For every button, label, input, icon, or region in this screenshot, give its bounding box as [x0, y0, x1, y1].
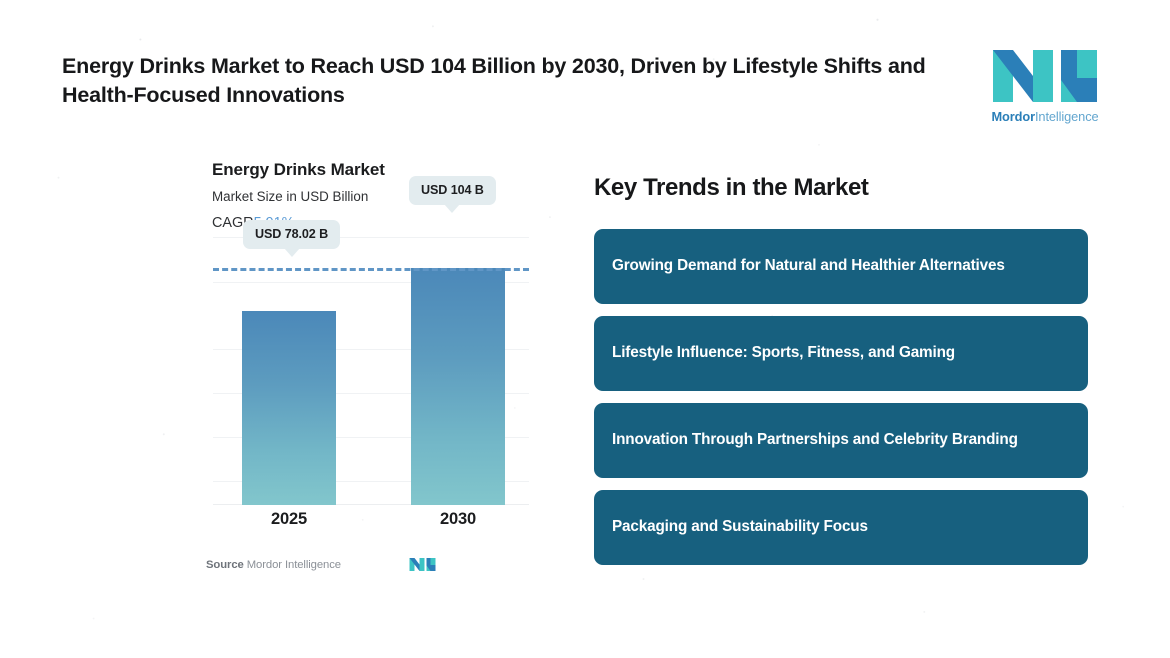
- header: Energy Drinks Market to Reach USD 104 Bi…: [62, 52, 1108, 124]
- reference-line: [213, 268, 529, 271]
- trend-card-3[interactable]: Innovation Through Partnerships and Cele…: [594, 403, 1088, 478]
- mordor-intelligence-mark-icon: [409, 556, 436, 573]
- brand-name-primary: Mordor: [991, 109, 1034, 124]
- trend-card-2[interactable]: Lifestyle Influence: Sports, Fitness, an…: [594, 316, 1088, 391]
- source-text: Source Mordor Intelligence: [206, 559, 341, 571]
- bar-2030[interactable]: [411, 268, 505, 505]
- trend-card-1[interactable]: Growing Demand for Natural and Healthier…: [594, 229, 1088, 304]
- brand-wordmark: MordorIntelligence: [982, 109, 1108, 124]
- source-name: Mordor Intelligence: [247, 559, 341, 571]
- value-callout-2030: USD 104 B: [409, 176, 496, 205]
- trend-card-4[interactable]: Packaging and Sustainability Focus: [594, 490, 1088, 565]
- trend-card-2-label: Lifestyle Influence: Sports, Fitness, an…: [612, 343, 955, 363]
- value-callout-2025: USD 78.02 B: [243, 220, 340, 249]
- x-axis-label-2025: 2025: [242, 510, 336, 529]
- brand-logo: MordorIntelligence: [982, 48, 1108, 124]
- key-trends-heading: Key Trends in the Market: [594, 174, 1088, 202]
- bar-chart-plot-area: USD 78.02 B USD 104 B: [213, 237, 529, 505]
- key-trends-panel: Key Trends in the Market Growing Demand …: [594, 174, 1088, 577]
- brand-name-secondary: Intelligence: [1035, 109, 1099, 124]
- page-title: Energy Drinks Market to Reach USD 104 Bi…: [62, 52, 962, 110]
- bar-2025[interactable]: [242, 311, 336, 505]
- source-label: Source: [206, 559, 244, 571]
- x-axis-label-2030: 2030: [411, 510, 505, 529]
- trend-card-1-label: Growing Demand for Natural and Healthier…: [612, 256, 1005, 276]
- trend-card-4-label: Packaging and Sustainability Focus: [612, 517, 868, 537]
- trend-card-3-label: Innovation Through Partnerships and Cele…: [612, 430, 1018, 450]
- source-logo: [409, 556, 436, 573]
- mordor-intelligence-logo-icon: [991, 48, 1099, 104]
- chart-source: Source Mordor Intelligence: [206, 556, 536, 573]
